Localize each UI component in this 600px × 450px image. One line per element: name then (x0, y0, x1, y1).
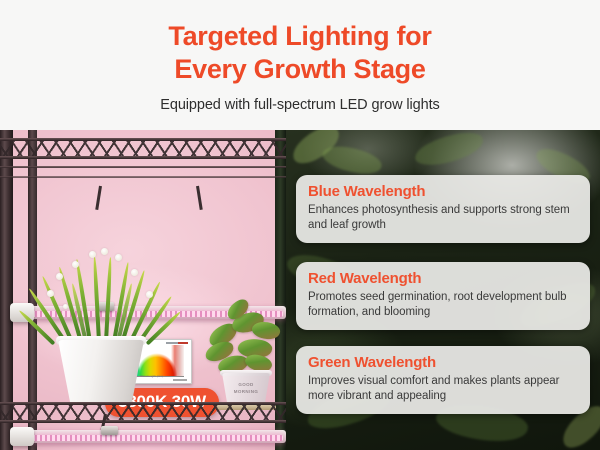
benefit-card-green[interactable]: Green Wavelength Improves visual comfort… (296, 346, 590, 414)
benefit-card-body: Enhances photosynthesis and supports str… (308, 203, 578, 234)
flower-bud (101, 248, 108, 255)
pot-label-line-1: GOOD (222, 382, 270, 389)
white-pot-left (58, 340, 144, 402)
led-bar-end-cap (10, 427, 34, 446)
flower-bud (72, 261, 79, 268)
grow-shelf-photo: Wavelength (nm) 3800K 30W (0, 130, 286, 450)
shelf-mesh (0, 141, 286, 156)
flower-bud (56, 273, 63, 280)
benefit-card-body: Improves visual comfort and makes plants… (308, 374, 578, 405)
title-line-1: Targeted Lighting for (168, 21, 431, 51)
led-grow-light-bar-bottom (28, 430, 286, 443)
pot-label-text: GOOD MORNING (222, 382, 270, 396)
promo-banner: Targeted Lighting for Every Growth Stage… (0, 0, 600, 450)
benefit-card-title: Green Wavelength (308, 354, 578, 371)
shelf-rail (0, 420, 286, 423)
flower-bud (63, 304, 68, 309)
page-subtitle: Equipped with full-spectrum LED grow lig… (160, 97, 439, 113)
benefit-card-blue[interactable]: Blue Wavelength Enhances photosynthesis … (296, 175, 590, 243)
led-bar-mount-clip (101, 426, 118, 435)
flower-bud (89, 251, 96, 258)
benefit-card-red[interactable]: Red Wavelength Promotes seed germination… (296, 262, 590, 330)
page-title: Targeted Lighting for Every Growth Stage (168, 20, 431, 86)
header: Targeted Lighting for Every Growth Stage… (0, 0, 600, 130)
title-line-2: Every Growth Stage (168, 53, 431, 86)
benefits-panel: Blue Wavelength Enhances photosynthesis … (286, 130, 600, 450)
shelf-rail (0, 156, 286, 159)
flower-bud (115, 254, 122, 261)
flower-bud (146, 291, 153, 298)
shelf-mesh (0, 405, 286, 420)
benefit-card-title: Blue Wavelength (308, 183, 578, 200)
shelf-rail (0, 166, 286, 168)
body: Wavelength (nm) 3800K 30W (0, 130, 600, 450)
shelf-rail (0, 176, 286, 178)
pot-label-line-2: MORNING (222, 389, 270, 396)
benefit-card-body: Promotes seed germination, root developm… (308, 290, 578, 321)
flower-bud (47, 290, 54, 297)
benefit-card-title: Red Wavelength (308, 270, 578, 287)
flower-bud (131, 269, 138, 276)
led-diode-strip (32, 435, 283, 441)
